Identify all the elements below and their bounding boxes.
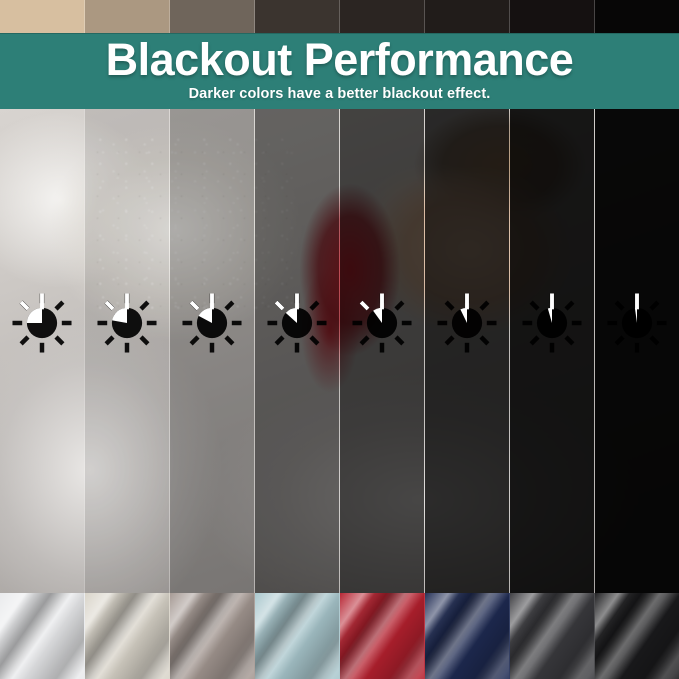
top-swatch-cream [85, 0, 170, 34]
page-subtitle: Darker colors have a better blackout eff… [189, 86, 491, 102]
fabric-swatch-black[interactable] [595, 593, 679, 679]
fabric-fold-shadow [255, 593, 340, 679]
top-swatch-black [595, 0, 679, 34]
blackout-performance-infographic: Blackout Performance Darker colors have … [0, 0, 679, 679]
top-swatch-navy [425, 0, 510, 34]
fabric-fold-shadow [425, 593, 510, 679]
fabric-swatch-navy[interactable] [425, 593, 510, 679]
fabric-swatch-light-blue[interactable] [255, 593, 340, 679]
fabric-fold-shadow [340, 593, 425, 679]
fabric-swatch-dark-grey[interactable] [510, 593, 595, 679]
top-color-strip [0, 0, 679, 34]
top-swatch-dark-grey [510, 0, 595, 34]
page-title: Blackout Performance [106, 35, 574, 85]
fabric-fold-shadow [85, 593, 170, 679]
top-swatch-taupe [170, 0, 255, 34]
fabric-fold-shadow [510, 593, 595, 679]
top-swatch-white [0, 0, 85, 34]
fabric-swatch-red[interactable] [340, 593, 425, 679]
fabric-fold-shadow [0, 593, 85, 679]
fabric-swatch-white[interactable] [0, 593, 85, 679]
top-swatch-red [340, 0, 425, 34]
fabric-fold-shadow [170, 593, 255, 679]
fabric-swatch-cream[interactable] [85, 593, 170, 679]
fabric-swatch-row [0, 593, 679, 679]
top-swatch-light-blue [255, 0, 340, 34]
header-banner: Blackout Performance Darker colors have … [0, 33, 679, 109]
fabric-fold-shadow [595, 593, 679, 679]
fabric-swatch-taupe[interactable] [170, 593, 255, 679]
